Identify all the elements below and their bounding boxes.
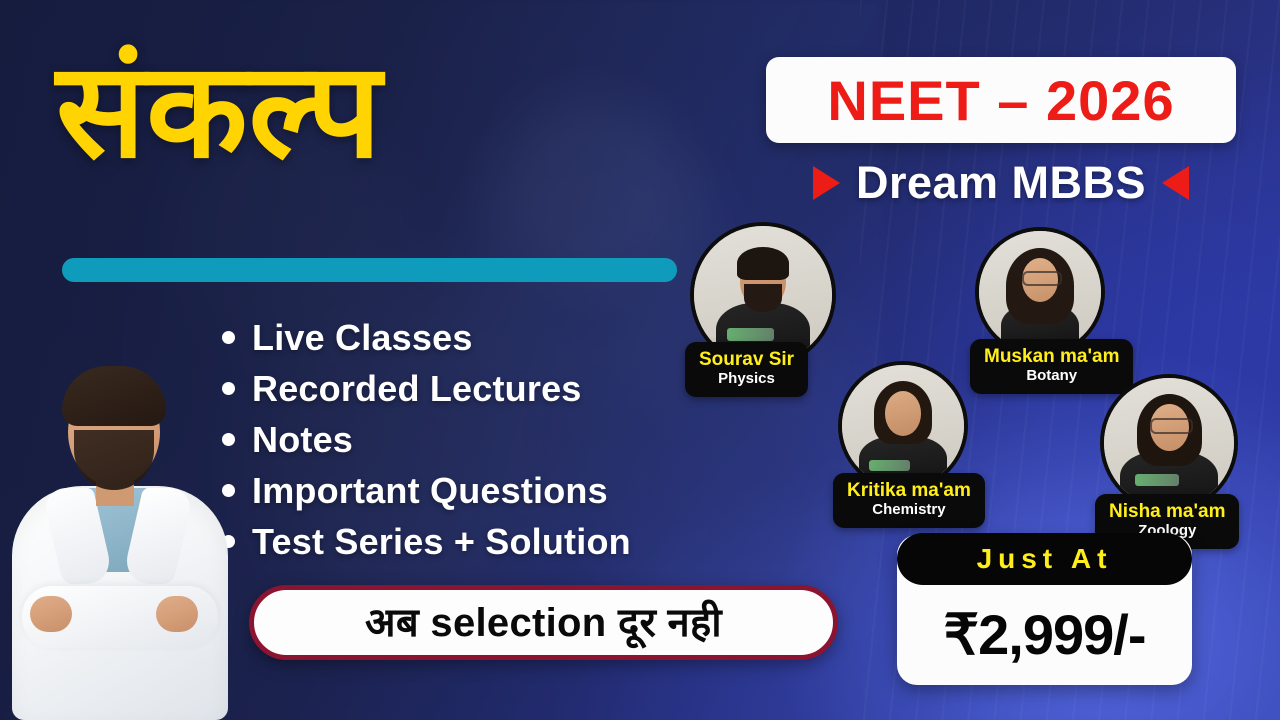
avatar-face: [885, 391, 922, 436]
list-item: Important Questions: [222, 465, 742, 516]
avatar: [838, 361, 968, 491]
feature-label: Notes: [252, 419, 353, 461]
avatar-tshirt-logo: [1135, 474, 1179, 486]
faculty-subject: Botany: [984, 367, 1119, 385]
title-underline-bar: [62, 258, 677, 282]
faculty-name: Muskan ma'am: [984, 346, 1119, 367]
page-title: संकल्प: [56, 22, 696, 200]
price-heading: Just At: [977, 543, 1113, 575]
price-amount: ₹2,999/-: [897, 587, 1192, 683]
tagline-text: अब selection दूर नही: [365, 603, 722, 643]
doctor-hand-left: [30, 596, 72, 632]
faculty-subject: Physics: [699, 370, 794, 388]
exam-badge: NEET – 2026: [766, 57, 1236, 143]
bullet-icon: [222, 331, 235, 344]
price-heading-pill: Just At: [897, 533, 1192, 585]
price-box[interactable]: Just At ₹2,999/-: [897, 535, 1192, 685]
features-list: Live Classes Recorded Lectures Notes Imp…: [222, 312, 742, 567]
faculty-name: Sourav Sir: [699, 349, 794, 370]
list-item: Live Classes: [222, 312, 742, 363]
doctor-hand-right: [156, 596, 198, 632]
doctor-beard: [74, 430, 154, 490]
avatar-hair: [737, 247, 789, 280]
avatar-beard: [744, 284, 783, 312]
faculty-name: Kritika ma'am: [847, 480, 971, 501]
triangle-right-icon: [813, 166, 840, 200]
tagline-banner: अब selection दूर नही: [249, 585, 838, 660]
faculty-cluster: Sourav Sir Physics Muskan ma'am Botany: [690, 222, 1270, 522]
avatar: [1100, 374, 1238, 512]
feature-label: Recorded Lectures: [252, 368, 582, 410]
promo-banner: संकल्प NEET – 2026 Dream MBBS Live Class…: [0, 0, 1280, 720]
list-item: Test Series + Solution: [222, 516, 742, 567]
doctor-hair: [62, 366, 166, 426]
faculty-name: Nisha ma'am: [1109, 501, 1225, 522]
avatar: [975, 227, 1105, 357]
list-item: Recorded Lectures: [222, 363, 742, 414]
avatar-glasses: [1150, 418, 1193, 434]
triangle-left-icon: [1162, 166, 1189, 200]
dream-mbbs-row: Dream MBBS: [766, 152, 1236, 214]
avatar-tshirt-logo: [727, 328, 774, 340]
faculty-subject: Chemistry: [847, 501, 971, 519]
feature-label: Live Classes: [252, 317, 473, 359]
list-item: Notes: [222, 414, 742, 465]
faculty-label: Sourav Sir Physics: [685, 342, 808, 397]
avatar-tshirt-logo: [869, 460, 910, 471]
feature-label: Test Series + Solution: [252, 521, 631, 563]
faculty-label: Kritika ma'am Chemistry: [833, 473, 985, 528]
avatar-glasses: [1022, 271, 1063, 286]
exam-badge-label: NEET – 2026: [827, 68, 1174, 133]
dream-mbbs-label: Dream MBBS: [856, 157, 1146, 209]
feature-label: Important Questions: [252, 470, 608, 512]
doctor-photo: [6, 360, 236, 720]
